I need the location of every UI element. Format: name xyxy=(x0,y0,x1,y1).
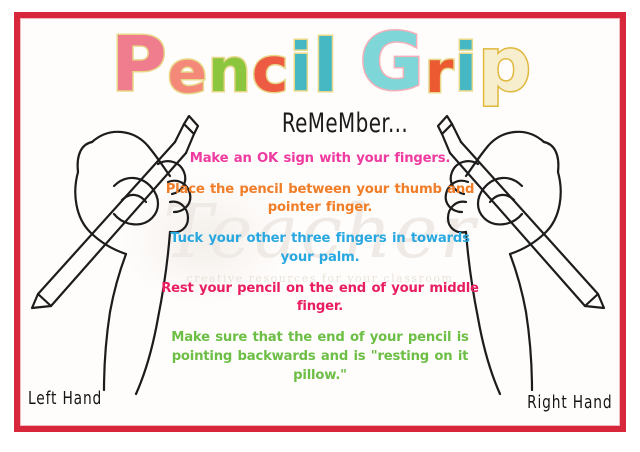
instruction-item-1: Make an OK sign with your fingers. xyxy=(160,150,480,169)
pencil-grip-poster: Teacher creative resources for your clas… xyxy=(0,0,640,452)
title-letter-n: n xyxy=(208,43,251,100)
title-letter-c: c xyxy=(252,41,289,100)
right-hand-label: Right Hand xyxy=(527,392,612,413)
title-letter-p: P xyxy=(111,28,167,100)
title-letter-e: e xyxy=(168,45,207,100)
left-hand-label: Left Hand xyxy=(28,388,102,409)
title-letter-i: i xyxy=(289,37,312,100)
title-letter-i2: i xyxy=(454,37,477,100)
instruction-item-3: Tuck your other three fingers in towards… xyxy=(160,230,480,267)
title-letter-r: r xyxy=(425,45,454,100)
title-letter-l: l xyxy=(313,32,338,100)
remember-heading: ReMeMber... xyxy=(267,108,423,139)
page-title: P e n c i l G r i p xyxy=(26,20,616,100)
instruction-item-2: Place the pencil between your thumb and … xyxy=(160,181,480,218)
instruction-item-4: Rest your pencil on the end of your midd… xyxy=(160,280,480,317)
instruction-list: Make an OK sign with your fingers. Place… xyxy=(160,150,480,385)
title-letter-g: G xyxy=(360,26,424,100)
instruction-item-5: Make sure that the end of your pencil is… xyxy=(160,329,480,385)
title-letter-p2: p xyxy=(478,30,531,100)
